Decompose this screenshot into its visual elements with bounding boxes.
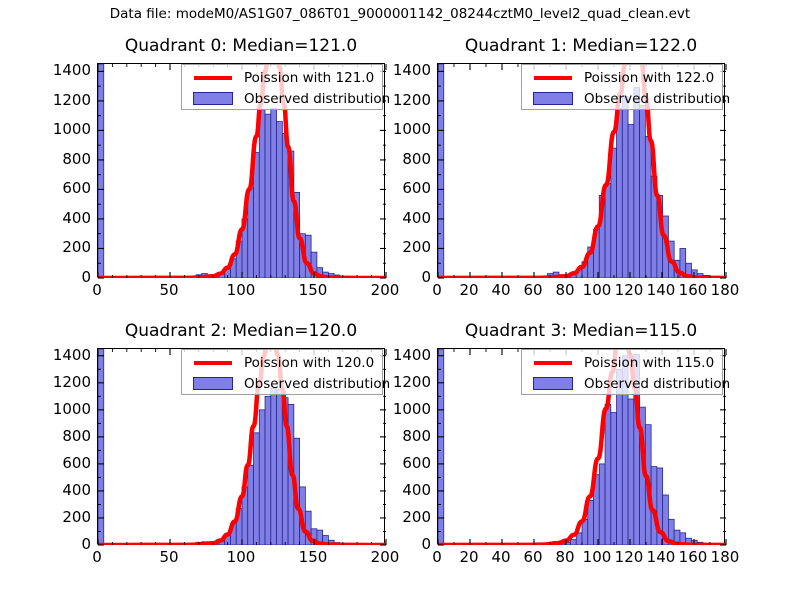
- poisson-line-icon: [531, 67, 575, 88]
- x-tick-label: 40: [491, 548, 510, 566]
- x-tick-label: 20: [459, 548, 478, 566]
- legend-color-swatch: [533, 92, 573, 105]
- legend-line-swatch: [534, 361, 572, 365]
- legend-line-swatch: [194, 361, 232, 365]
- x-tick-label: 100: [583, 548, 612, 566]
- x-tick-label: 120: [615, 548, 644, 566]
- legend-entry-observed: Observed distribution: [522, 88, 722, 109]
- histogram-bar: [599, 464, 605, 545]
- subplot-title: Quadrant 3: Median=115.0: [437, 321, 725, 341]
- legend: Poission with 115.0Observed distribution: [521, 349, 723, 395]
- poisson-line-icon: [531, 352, 575, 373]
- x-tick-label: 80: [555, 548, 574, 566]
- legend-label: Observed distribution: [244, 91, 390, 107]
- x-tick-label: 160: [679, 548, 708, 566]
- y-tick-label: 1000: [393, 400, 431, 418]
- legend-color-swatch: [533, 377, 573, 390]
- legend-entry-poisson: Poission with 122.0: [522, 67, 722, 88]
- x-tick-label: 180: [711, 548, 740, 566]
- legend-color-swatch: [193, 377, 233, 390]
- observed-patch-icon: [191, 373, 235, 394]
- legend-color-swatch: [193, 92, 233, 105]
- legend-label: Observed distribution: [584, 91, 730, 107]
- y-tick-label: 200: [402, 508, 431, 526]
- figure-canvas: Data file: modeM0/AS1G07_086T01_90000011…: [0, 0, 800, 600]
- poisson-line-icon: [191, 352, 235, 373]
- legend-entry-poisson: Poission with 115.0: [522, 352, 722, 373]
- observed-patch-icon: [531, 88, 575, 109]
- legend-entry-observed: Observed distribution: [182, 88, 382, 109]
- legend-line-swatch: [194, 76, 232, 80]
- histogram-bar: [617, 369, 623, 545]
- x-tick-label: 0: [432, 548, 442, 566]
- legend: Poission with 122.0Observed distribution: [521, 64, 723, 110]
- poisson-line-icon: [191, 67, 235, 88]
- histogram-bar: [605, 404, 611, 545]
- y-tick-label: 600: [402, 454, 431, 472]
- y-tick-label: 800: [402, 427, 431, 445]
- y-tick-label: 1400: [393, 346, 431, 364]
- observed-patch-icon: [531, 373, 575, 394]
- x-tick-label: 60: [523, 548, 542, 566]
- histogram-bar: [628, 399, 634, 545]
- observed-patch-icon: [191, 88, 235, 109]
- legend-entry-poisson: Poission with 120.0: [182, 352, 382, 373]
- histogram-bar: [611, 413, 617, 545]
- legend-label: Poission with 120.0: [244, 355, 374, 371]
- legend-entry-observed: Observed distribution: [182, 373, 382, 394]
- legend-label: Poission with 115.0: [584, 355, 714, 371]
- histogram-bar: [588, 500, 594, 545]
- histogram-bar: [570, 540, 576, 545]
- legend-label: Poission with 121.0: [244, 70, 374, 86]
- y-tick-label: 1200: [393, 373, 431, 391]
- legend-label: Observed distribution: [584, 376, 730, 392]
- legend-label: Poission with 122.0: [584, 70, 714, 86]
- legend: Poission with 121.0Observed distribution: [181, 64, 383, 110]
- y-tick-label: 400: [402, 481, 431, 499]
- legend-label: Observed distribution: [244, 376, 390, 392]
- x-tick-label: 140: [647, 548, 676, 566]
- legend: Poission with 120.0Observed distribution: [181, 349, 383, 395]
- legend-entry-observed: Observed distribution: [522, 373, 722, 394]
- legend-entry-poisson: Poission with 121.0: [182, 67, 382, 88]
- legend-line-swatch: [534, 76, 572, 80]
- y-tick-label: 0: [421, 535, 431, 553]
- histogram-bar: [438, 349, 444, 545]
